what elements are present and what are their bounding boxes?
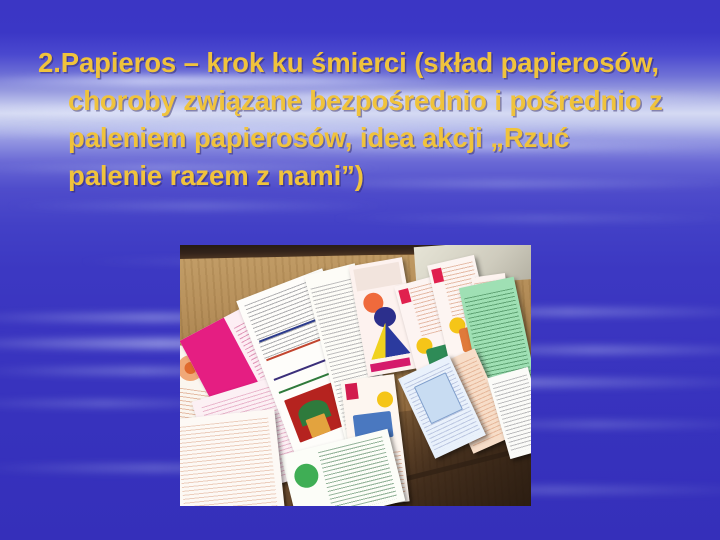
slide-canvas: 2.Papieros – krok ku śmierci (skład papi… — [0, 0, 720, 540]
slide-title-text: 2.Papieros – krok ku śmierci (skład papi… — [38, 47, 670, 191]
leaflets-photo — [180, 245, 531, 506]
slide-title: 2.Papieros – krok ku śmierci (skład papi… — [38, 44, 668, 194]
leaflet-item — [180, 409, 285, 506]
